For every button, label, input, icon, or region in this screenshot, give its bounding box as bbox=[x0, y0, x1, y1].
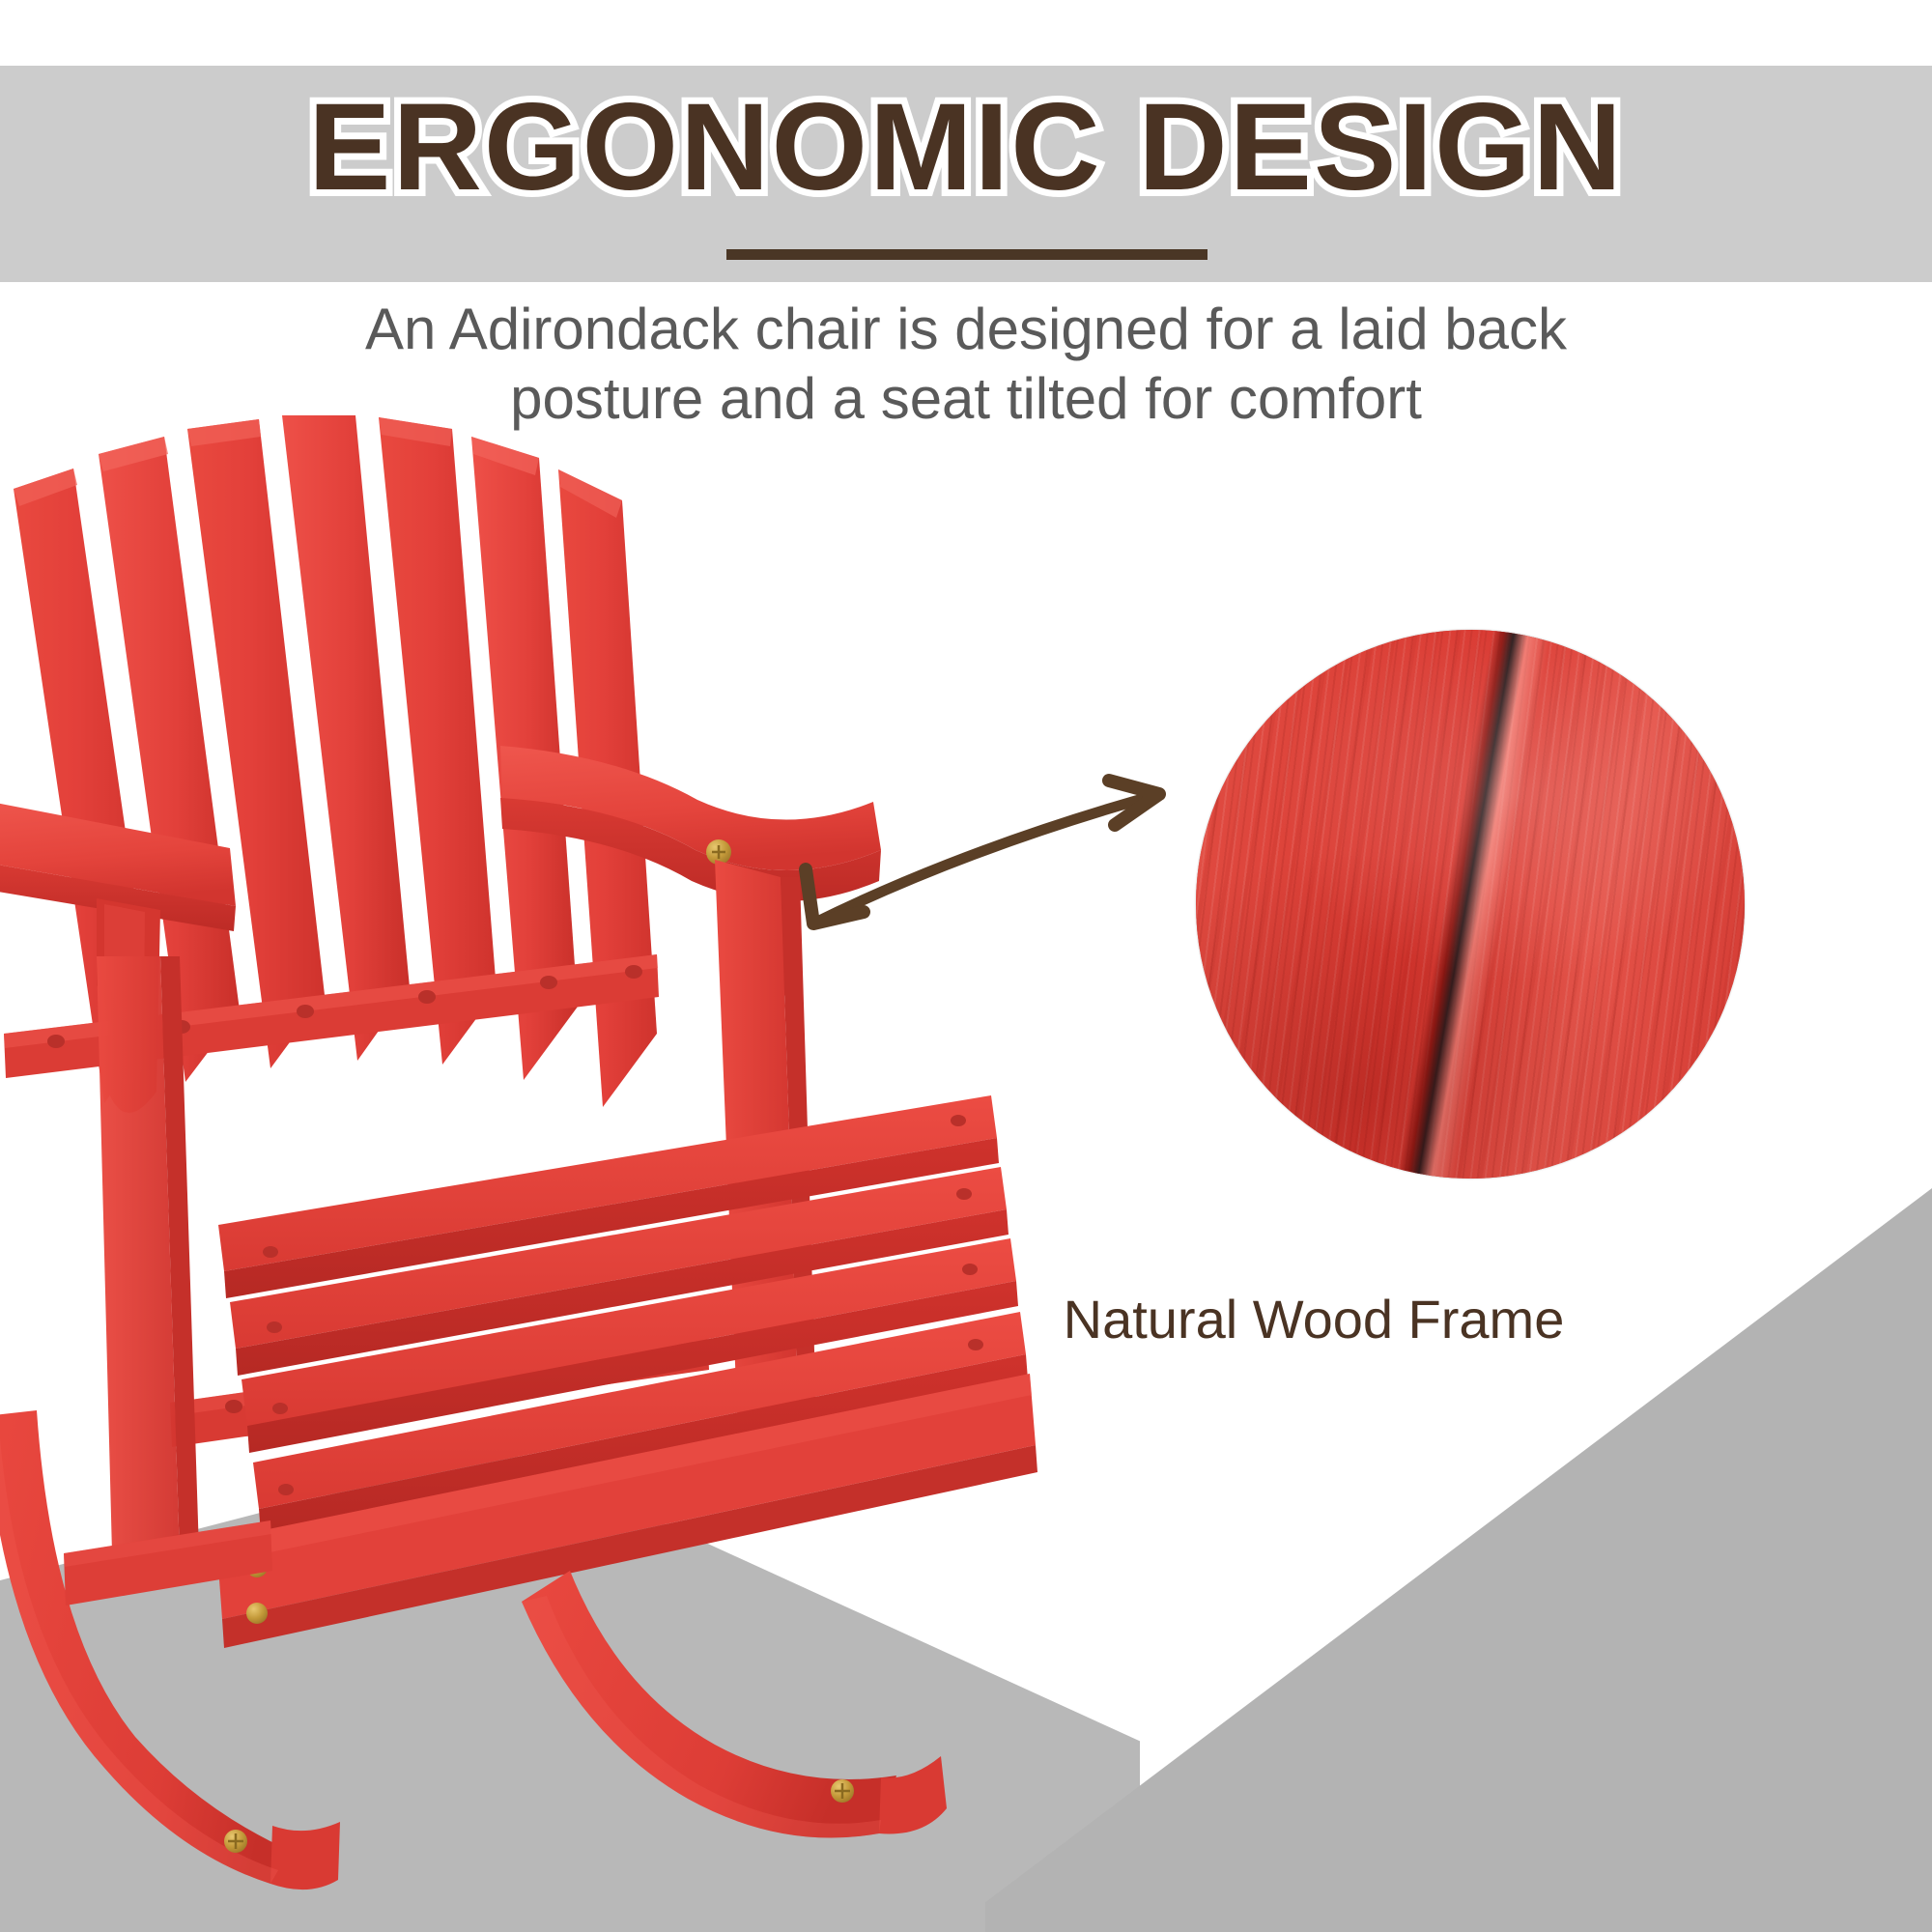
adirondack-rocking-chair-image bbox=[0, 415, 1121, 1932]
curved-double-arrow-icon bbox=[763, 734, 1188, 956]
inset-caption: Natural Wood Frame bbox=[976, 1289, 1652, 1350]
subtitle-line-1: An Adirondack chair is designed for a la… bbox=[241, 295, 1690, 364]
subtitle: An Adirondack chair is designed for a la… bbox=[241, 295, 1690, 434]
wood-grain-magnifier-circle bbox=[1196, 630, 1745, 1179]
wood-sheen-overlay bbox=[1196, 630, 1745, 1179]
title-underline-rule bbox=[726, 249, 1207, 260]
product-feature-poster: ERGONOMIC DESIGN An Adirondack chair is … bbox=[0, 0, 1932, 1932]
page-title: ERGONOMIC DESIGN bbox=[0, 75, 1932, 220]
right-rocker-runner bbox=[522, 1571, 947, 1838]
